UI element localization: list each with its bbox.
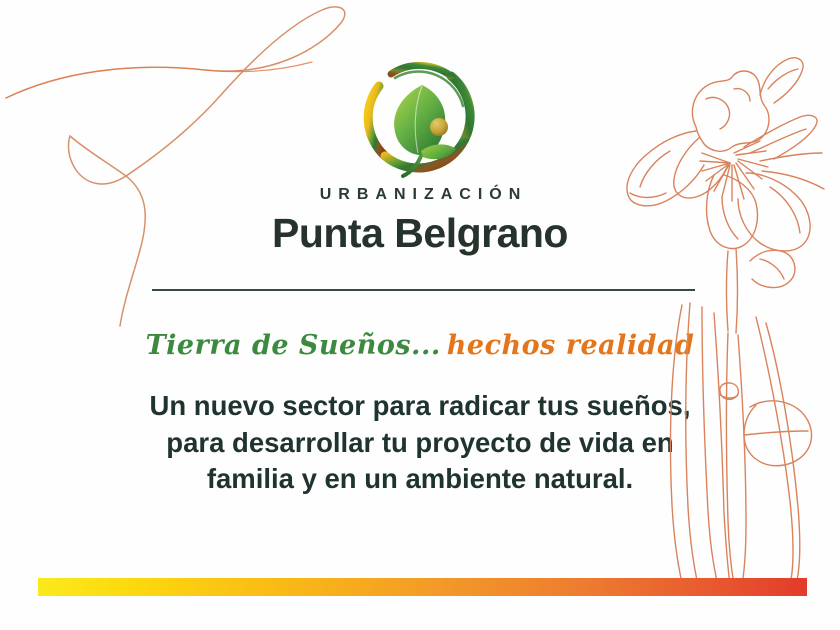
flyer-canvas: URBANIZACIÓN Punta Belgrano Tierra de Su… [0,0,840,630]
brand-name: Punta Belgrano [0,212,840,255]
decorative-swirl-line [0,0,360,330]
tagline: Tierra de Sueños...hechos realidad [0,330,840,361]
brand-eyebrow: URBANIZACIÓN [0,186,840,204]
tagline-green-part: Tierra de Sueños... [146,330,441,361]
body-copy-line-3: familia y en un ambiente natural. [120,461,720,498]
body-copy: Un nuevo sector para radicar tus sueños,… [120,388,720,498]
iris-flower-line-art [610,55,840,595]
body-copy-line-1: Un nuevo sector para radicar tus sueños, [120,388,720,425]
horizontal-rule [152,289,695,291]
tagline-orange-part: hechos realidad [447,330,695,361]
gradient-accent-bar [38,578,807,596]
leaf-circle-logo [355,52,485,182]
brand-block: URBANIZACIÓN Punta Belgrano [0,186,840,255]
body-copy-line-2: para desarrollar tu proyecto de vida en [120,425,720,462]
